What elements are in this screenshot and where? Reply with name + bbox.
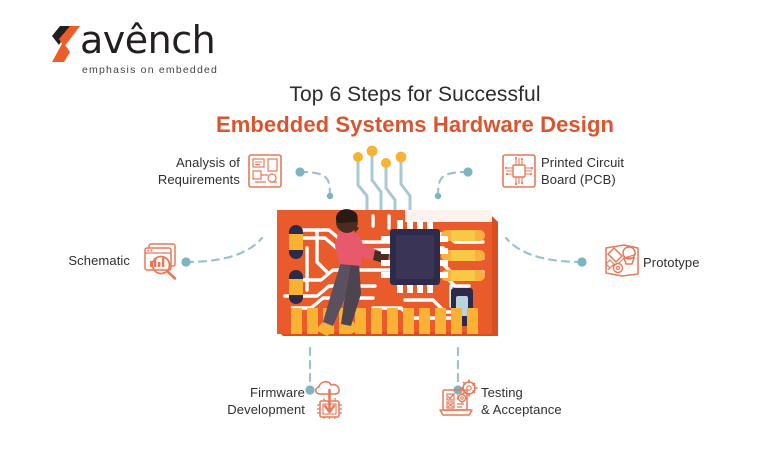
step-label-prototype: Prototype — [643, 254, 753, 271]
step-label-schematic: Schematic — [50, 252, 130, 269]
capacitor — [289, 225, 303, 259]
microchip — [381, 220, 448, 293]
logo-k-mark-icon — [50, 26, 84, 62]
central-illustration — [255, 130, 520, 360]
brand-tagline: emphasis on embedded — [82, 64, 218, 76]
circuit-board-schematic-icon[interactable] — [246, 152, 284, 190]
connector-dot — [181, 257, 190, 266]
window-magnifier-icon[interactable] — [140, 240, 182, 282]
laptop-checklist-gears-icon[interactable] — [438, 378, 480, 420]
pcb-chip-icon[interactable] — [500, 152, 538, 190]
step-label-analysis-of-requirements: Analysis of Requirements — [130, 154, 240, 188]
brand-logo: avênch emphasis on embedded — [50, 18, 230, 80]
infographic-canvas: avênch emphasis on embedded Top 6 Steps … — [0, 0, 768, 452]
step-label-printed-circuit-board: Printed Circuit Board (PCB) — [541, 154, 661, 188]
step-label-firmware-development: Firmware Development — [195, 384, 305, 418]
brand-wordmark: avênch — [80, 18, 215, 62]
step-label-testing-acceptance: Testing & Acceptance — [481, 384, 591, 418]
blueprint-pencil-gear-icon[interactable] — [602, 240, 642, 280]
cloud-download-chip-icon[interactable] — [310, 378, 350, 420]
title-line-1: Top 6 Steps for Successful — [180, 82, 650, 108]
capacitor — [289, 270, 303, 304]
connector-dot — [577, 257, 586, 266]
